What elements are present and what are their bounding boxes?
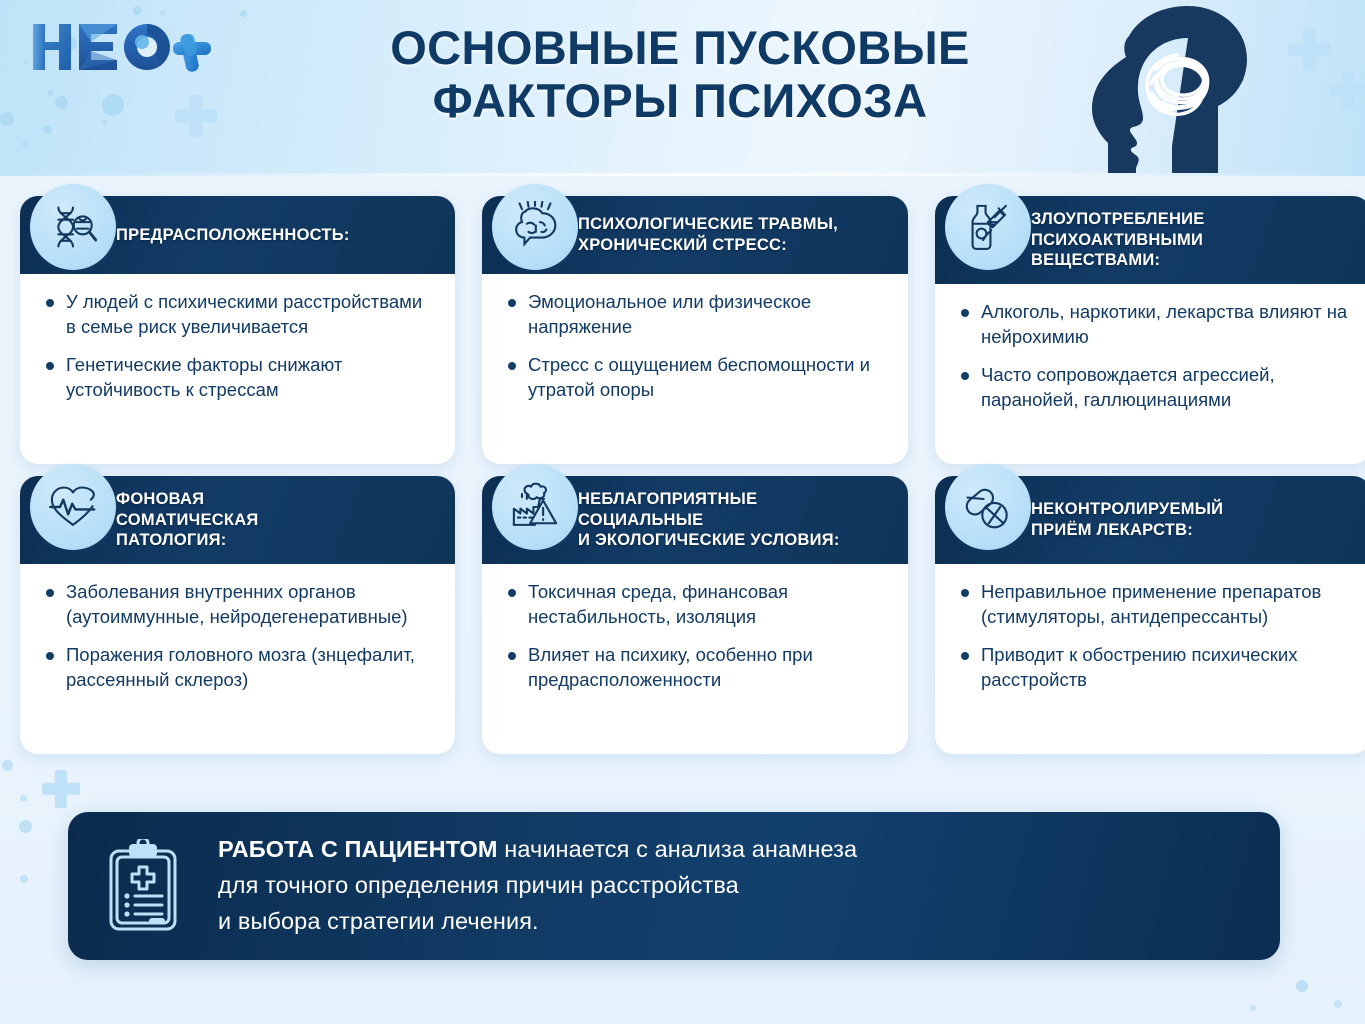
bullet-list: Токсичная среда, финансовая нестабильнос… [502, 580, 890, 692]
list-item: Генетические факторы снижают устойчивост… [40, 353, 437, 402]
decor-dot [2, 760, 13, 771]
card-title: НЕКОНТРОЛИРУЕМЫЙ ПРИЁМ ЛЕКАРСТВ: [1031, 499, 1223, 540]
bullet-list: Эмоциональное или физическое напряжение … [502, 290, 890, 402]
list-item: Приводит к обострению психических расстр… [955, 643, 1353, 692]
summary-text: РАБОТА С ПАЦИЕНТОМ начинается с анализа … [218, 832, 887, 939]
card-title: ЗЛОУПОТРЕБЛЕНИЕ ПСИХОАКТИВНЫМИ ВЕЩЕСТВАМ… [1031, 209, 1205, 271]
bullet-list: Заболевания внутренних органов (аутоимму… [40, 580, 437, 692]
infographic-page: ОСНОВНЫЕ ПУСКОВЫЕ ФАКТОРЫ ПСИХОЗА [0, 0, 1365, 1024]
decor-dot [20, 875, 28, 883]
decor-dot [0, 112, 14, 126]
bullet-list: У людей с психическими расстройствами в … [40, 290, 437, 402]
brand-logo[interactable] [25, 16, 215, 78]
factors-grid: ПРЕДРАСПОЛОЖЕННОСТЬ: У людей с психическ… [20, 196, 1345, 754]
bullet-list: Алкоголь, наркотики, лекарства влияют на… [955, 300, 1353, 412]
factor-card-somatic-pathology: ФОНОВАЯ СОМАТИЧЕСКАЯ ПАТОЛОГИЯ: Заболева… [20, 476, 455, 754]
decor-dot [102, 120, 107, 125]
card-header: ПСИХОЛОГИЧЕСКИЕ ТРАВМЫ, ХРОНИЧЕСКИЙ СТРЕ… [482, 196, 908, 274]
clipboard-medical-icon [68, 839, 218, 933]
decor-dot [20, 795, 27, 802]
bullet-list: Неправильное применение препаратов (стим… [955, 580, 1353, 692]
card-body: Неправильное применение препаратов (стим… [935, 564, 1365, 706]
card-title: ПСИХОЛОГИЧЕСКИЕ ТРАВМЫ, ХРОНИЧЕСКИЙ СТРЕ… [578, 214, 838, 255]
card-body: Алкоголь, наркотики, лекарства влияют на… [935, 284, 1365, 426]
decor-dot [1334, 1000, 1342, 1008]
decor-dot [22, 141, 28, 147]
decor-cross [42, 770, 80, 808]
summary-lead: РАБОТА С ПАЦИЕНТОМ [218, 836, 498, 862]
card-header: НЕБЛАГОПРИЯТНЫЕ СОЦИАЛЬНЫЕ И ЭКОЛОГИЧЕСК… [482, 476, 908, 564]
summary-line-2: для точного определения причин расстройс… [218, 868, 857, 904]
decor-cross [1288, 28, 1331, 71]
decor-dot [133, 6, 142, 15]
factor-card-predisposition: ПРЕДРАСПОЛОЖЕННОСТЬ: У людей с психическ… [20, 196, 455, 464]
card-body: Заболевания внутренних органов (аутоимму… [20, 564, 455, 706]
decor-dot [55, 96, 68, 109]
factory-warning-icon [492, 464, 578, 550]
decor-dot [1296, 980, 1308, 992]
list-item: Неправильное применение препаратов (стим… [955, 580, 1353, 629]
card-body: Эмоциональное или физическое напряжение … [482, 274, 908, 416]
decor-cross [175, 95, 217, 137]
card-body: У людей с психическими расстройствами в … [20, 274, 455, 416]
decor-dot [102, 94, 124, 116]
card-body: Токсичная среда, финансовая нестабильнос… [482, 564, 908, 706]
summary-banner: РАБОТА С ПАЦИЕНТОМ начинается с анализа … [68, 812, 1280, 960]
card-header: ПРЕДРАСПОЛОЖЕННОСТЬ: [20, 196, 455, 274]
factor-card-social-ecological: НЕБЛАГОПРИЯТНЫЕ СОЦИАЛЬНЫЕ И ЭКОЛОГИЧЕСК… [482, 476, 908, 754]
list-item: Эмоциональное или физическое напряжение [502, 290, 890, 339]
page-title: ОСНОВНЫЕ ПУСКОВЫЕ ФАКТОРЫ ПСИХОЗА [330, 22, 1030, 127]
head-with-tangled-thoughts-icon [1080, 5, 1270, 173]
list-item: Токсичная среда, финансовая нестабильнос… [502, 580, 890, 629]
decor-dot [1250, 1005, 1256, 1011]
list-item: Стресс с ощущением беспомощности и утрат… [502, 353, 890, 402]
decor-dot [19, 820, 32, 833]
summary-rest: начинается с анализа анамнеза [498, 836, 858, 862]
list-item: Поражения головного мозга (знцефалит, ра… [40, 643, 437, 692]
bottle-syringe-icon [945, 184, 1031, 270]
list-item: Часто сопровождается агрессией, паранойе… [955, 363, 1353, 412]
card-title: ФОНОВАЯ СОМАТИЧЕСКАЯ ПАТОЛОГИЯ: [116, 489, 258, 551]
dna-magnifier-icon [30, 184, 116, 270]
decor-dot [240, 10, 247, 17]
card-title: ПРЕДРАСПОЛОЖЕННОСТЬ: [116, 225, 350, 246]
factor-card-substance-abuse: ЗЛОУПОТРЕБЛЕНИЕ ПСИХОАКТИВНЫМИ ВЕЩЕСТВАМ… [935, 196, 1365, 464]
list-item: Влияет на психику, особенно при предрасп… [502, 643, 890, 692]
summary-line-3: и выбора стратегии лечения. [218, 904, 857, 940]
summary-line-1: РАБОТА С ПАЦИЕНТОМ начинается с анализа … [218, 832, 857, 868]
page-title-line1: ОСНОВНЫЕ ПУСКОВЫЕ [390, 21, 970, 74]
card-title: НЕБЛАГОПРИЯТНЫЕ СОЦИАЛЬНЫЕ И ЭКОЛОГИЧЕСК… [578, 489, 840, 551]
pills-icon [945, 464, 1031, 550]
decor-cross [1330, 72, 1365, 110]
factor-card-uncontrolled-medication: НЕКОНТРОЛИРУЕМЫЙ ПРИЁМ ЛЕКАРСТВ: Неправи… [935, 476, 1365, 754]
heart-pulse-icon [30, 464, 116, 550]
page-title-line2: ФАКТОРЫ ПСИХОЗА [330, 75, 1030, 128]
list-item: Заболевания внутренних органов (аутоимму… [40, 580, 437, 629]
decor-dot [43, 125, 52, 134]
card-header: ЗЛОУПОТРЕБЛЕНИЕ ПСИХОАКТИВНЫМИ ВЕЩЕСТВАМ… [935, 196, 1365, 284]
card-header: ФОНОВАЯ СОМАТИЧЕСКАЯ ПАТОЛОГИЯ: [20, 476, 455, 564]
list-item: Алкоголь, наркотики, лекарства влияют на… [955, 300, 1353, 349]
decor-dot [47, 90, 53, 96]
list-item: У людей с психическими расстройствами в … [40, 290, 437, 339]
stressed-brain-icon [492, 184, 578, 270]
card-header: НЕКОНТРОЛИРУЕМЫЙ ПРИЁМ ЛЕКАРСТВ: [935, 476, 1365, 564]
factor-card-trauma-stress: ПСИХОЛОГИЧЕСКИЕ ТРАВМЫ, ХРОНИЧЕСКИЙ СТРЕ… [482, 196, 908, 464]
